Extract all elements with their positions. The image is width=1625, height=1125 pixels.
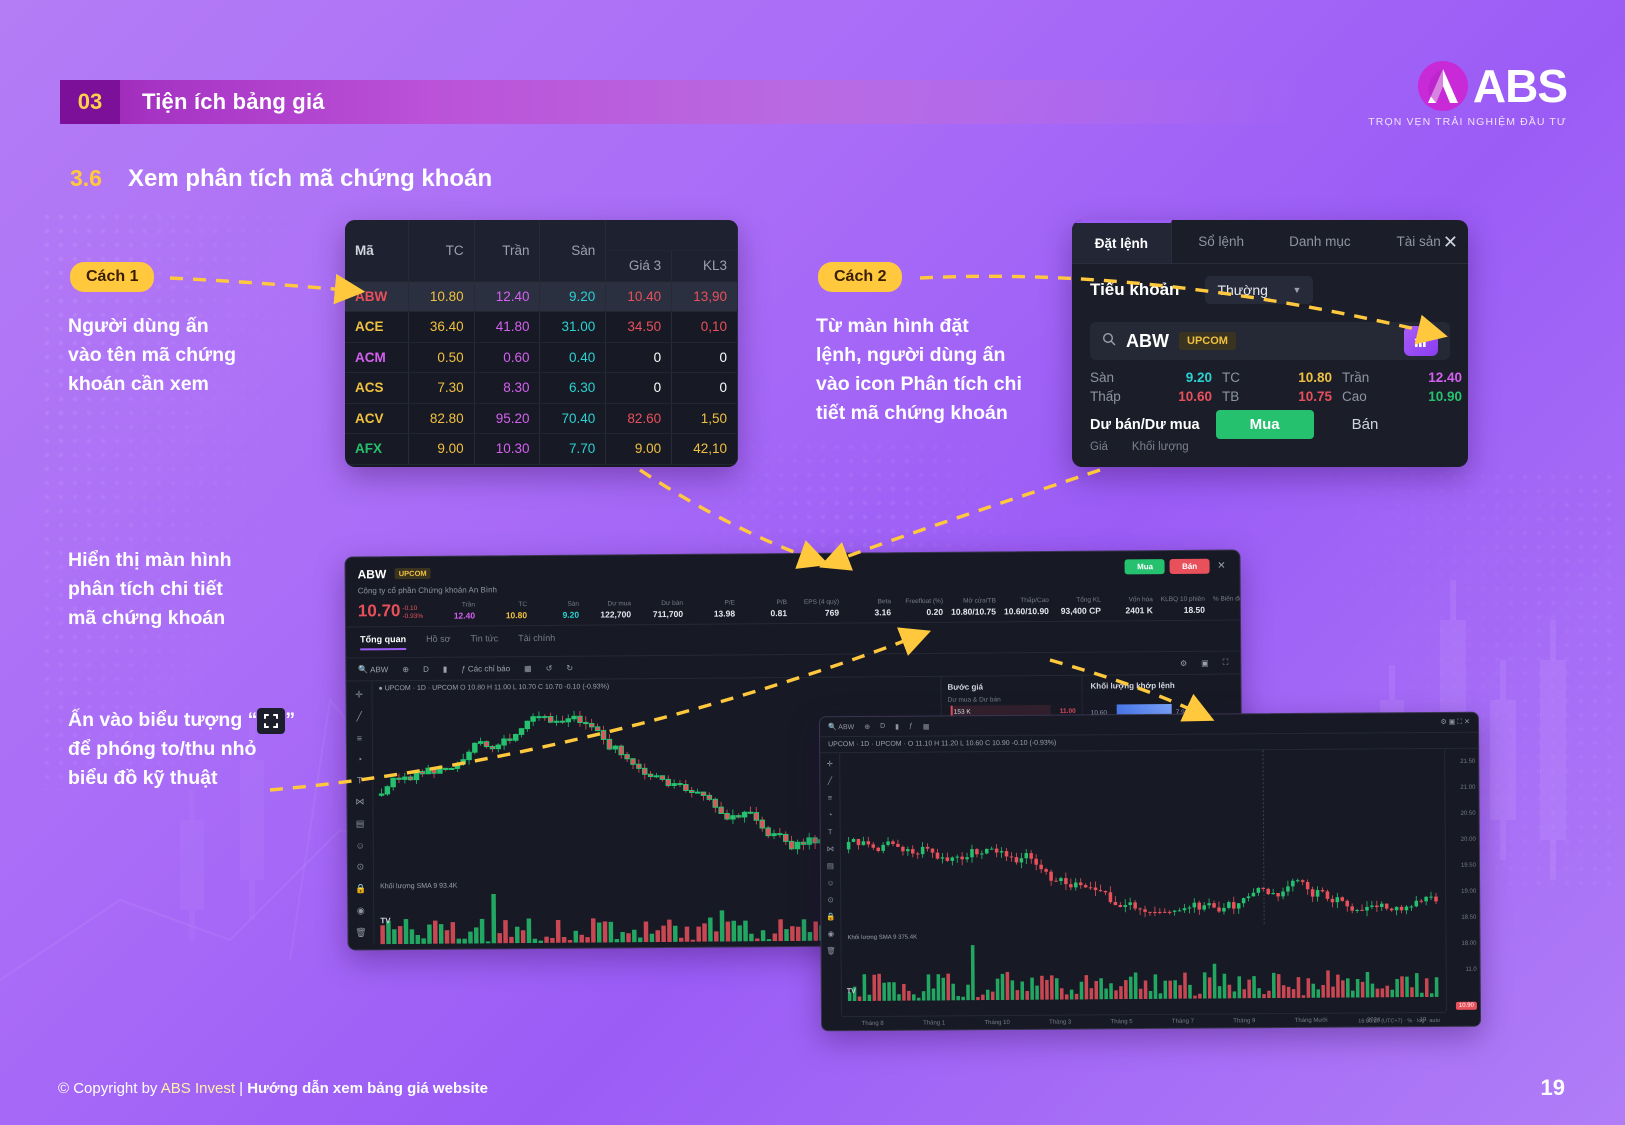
cell-gia3: 10.40 xyxy=(606,281,672,312)
fs-price-chart[interactable]: Khối lượng SMA 9 375.4K TV xyxy=(840,749,1446,1015)
mw-stat-value: 3.16 xyxy=(847,607,891,617)
trendline-icon[interactable]: ╱ xyxy=(356,711,362,722)
mw-stat-label: Beta xyxy=(847,598,891,605)
fs-lines-icon[interactable]: ≡ xyxy=(828,793,832,802)
abs-logo-tagline: TRỌN VẸN TRẢI NGHIỆM ĐẦU TƯ xyxy=(1337,116,1567,128)
mw-stat-label: Vốn hóa xyxy=(1109,596,1153,603)
emoji-icon[interactable]: ☺ xyxy=(356,840,365,850)
fs-y-tick: 21.00 xyxy=(1460,785,1475,791)
fs-drawing-toolbar: ✛ ╱ ≡ ◔ T ⋈ ▤ ☺ ⊙ 🔒 ◉ 🗑 xyxy=(820,753,842,1015)
mw-exchange-badge: UPCOM xyxy=(395,568,431,579)
symbol-search[interactable]: ABW UPCOM xyxy=(1090,322,1450,360)
mw-change: -0.10 -0.93% xyxy=(402,605,423,621)
cell-tran: 0.60 xyxy=(474,342,540,373)
quote-value: 10.60 xyxy=(1150,389,1212,404)
cell-gia3: 34.50 xyxy=(606,312,672,343)
order-footer-sub: Giá Khối lượng xyxy=(1072,439,1468,455)
cell-san: 31.00 xyxy=(540,312,606,343)
cell-gia3: 9.00 xyxy=(606,434,672,465)
mw-stat-label: Sàn xyxy=(535,601,579,608)
qty-sub-label: Khối lượng xyxy=(1132,441,1189,453)
layout-icon[interactable]: ▦ xyxy=(524,664,532,673)
cell-tran: 12.40 xyxy=(474,281,540,312)
mw-toolbar-search[interactable]: 🔍 ABW xyxy=(358,665,388,674)
cell-gia3: 0 xyxy=(606,373,672,404)
fullscreen-icon-mw[interactable]: ⛶ xyxy=(1223,658,1229,668)
quote-label: Trần xyxy=(1342,370,1390,385)
account-row: Tiểu khoản Thường ▼ xyxy=(1072,264,1468,314)
fs-y-tick: 11.0 xyxy=(1465,967,1476,973)
mw-stat-label: EPS (4 quý) xyxy=(795,599,839,606)
tab-so-lenh[interactable]: Sổ lệnh xyxy=(1172,220,1271,263)
sell-button[interactable]: Bán xyxy=(1330,410,1401,439)
arrow-order-to-window xyxy=(838,470,1100,560)
mw-stat-label: Thấp/Cao xyxy=(1004,597,1049,604)
fs-crosshair-icon[interactable]: ✛ xyxy=(827,759,833,768)
table-row[interactable]: ACM0.500.600.4000 xyxy=(345,342,738,373)
cell-code[interactable]: ACV xyxy=(345,403,408,434)
price-board-table[interactable]: Mã TC Trần Sàn Giá 3 KL3 ABW10.8012.409.… xyxy=(345,220,738,467)
mw-stat: % Biến động 1 năm8.13 xyxy=(1213,595,1244,614)
order-footer: Dư bán/Dư mua Mua Bán xyxy=(1072,404,1468,439)
fs-x-tick: Tháng 5 xyxy=(1111,1019,1133,1025)
zoom-text-prefix: Ấn vào biểu tượng “ xyxy=(68,709,257,731)
mw-stat: TC10.80 xyxy=(483,601,527,620)
mw-tab-tin-tuc[interactable]: Tin tức xyxy=(470,633,498,649)
mw-stat: Vốn hóa2401 K xyxy=(1109,596,1153,615)
order-panel-tabs: Đặt lệnh Sổ lệnh Danh mục Tài sản ✕ xyxy=(1072,220,1468,264)
fs-y-tick: 19.50 xyxy=(1461,863,1476,869)
mw-tab-tai-chinh[interactable]: Tài chính xyxy=(518,633,555,649)
price-table-body: ABW10.8012.409.2010.4013,90ACE36.4041.80… xyxy=(345,281,738,464)
table-row[interactable]: AFX9.0010.307.709.0042,10 xyxy=(345,434,738,465)
mw-stat-list: Trần12.40TC10.80Sàn9.20Dư mua122,700Dư b… xyxy=(423,594,1244,621)
mw-change-pct: -0.93% xyxy=(402,613,423,620)
mw-stat-value: 0.20 xyxy=(899,607,943,617)
section-title: Tiện ích bảng giá xyxy=(142,89,325,115)
quote-value: 9.20 xyxy=(1150,370,1212,385)
fs-chart-header-text: UPCOM · 1D · UPCOM · O 11.10 H 11.20 L 1… xyxy=(828,740,1056,749)
cell-san: 7.70 xyxy=(540,434,606,465)
mw-toolbar-interval[interactable]: D xyxy=(423,664,429,673)
mw-stat-label: % Biến động 1 năm xyxy=(1213,595,1244,602)
mw-stat-label: P/B xyxy=(743,599,787,606)
footer-separator: | xyxy=(235,1080,247,1097)
callout-text-zoom: Ấn vào biểu tượng “ ” để phóng to/thu nh… xyxy=(68,706,388,793)
magnet-icon[interactable]: ⊙ xyxy=(357,861,365,872)
cell-code[interactable]: ABW xyxy=(345,281,408,312)
mw-x-tick: Tháng Mười hai xyxy=(756,949,799,951)
mw-tab-tong-quan[interactable]: Tổng quan xyxy=(360,634,406,650)
close-icon[interactable]: ✕ xyxy=(1443,232,1458,253)
depth-label: Dư bán/Dư mua xyxy=(1090,417,1200,433)
cell-tc: 7.30 xyxy=(408,373,474,404)
tradingview-logo: TV xyxy=(380,916,390,925)
chevron-down-icon: ▼ xyxy=(1293,285,1302,295)
cell-tran: 10.30 xyxy=(474,434,540,465)
eye-icon[interactable]: ◉ xyxy=(357,905,365,916)
col-header-tc[interactable]: TC xyxy=(408,220,474,281)
fs-eye-icon[interactable]: ◉ xyxy=(828,929,835,938)
cell-kl3: 0 xyxy=(672,342,738,373)
mw-stat-label: P/E xyxy=(691,599,735,606)
search-icon xyxy=(1102,332,1116,351)
candlestick-icon[interactable]: ▮ xyxy=(443,664,447,673)
chart-analysis-icon[interactable] xyxy=(1404,326,1438,356)
fs-last-price-tag: 10.90 xyxy=(1456,1002,1477,1010)
fs-x-tick: Tháng 1 xyxy=(923,1020,945,1026)
mw-stat-label: Tổng KL xyxy=(1057,597,1101,604)
mw-toolbar-indicators[interactable]: ƒ Các chỉ báo xyxy=(461,664,510,673)
mw-stat-value: 12.40 xyxy=(431,611,475,621)
mw-stat-value: 10.80/10.75 xyxy=(951,606,996,616)
pattern-icon[interactable]: ⋈ xyxy=(355,796,364,807)
mw-stat: P/E13.98 xyxy=(691,599,735,618)
fs-shapes-icon[interactable]: ◔ xyxy=(828,810,833,819)
mw-stat: EPS (4 quý)769 xyxy=(795,599,839,618)
shapes-icon[interactable]: ◔ xyxy=(357,754,363,764)
dot-pattern-left xyxy=(40,210,340,790)
fs-tradingview-logo: TV xyxy=(847,988,856,995)
mw-stat-label: TC xyxy=(483,601,527,608)
tab-danh-muc[interactable]: Danh mục xyxy=(1271,220,1370,263)
mw-drawing-toolbar: ✛ ╱ ≡ ◔ T ⋈ ▤ ☺ ⊙ 🔒 ◉ 🗑 xyxy=(346,681,374,943)
fs-y-tick: 21.50 xyxy=(1460,759,1475,765)
mw-stat-value: 93,400 CP xyxy=(1057,606,1101,616)
section-number: 03 xyxy=(60,80,120,124)
mw-header: ABW UPCOM Công ty cổ phần Chứng khoán An… xyxy=(345,550,1239,599)
fs-x-tick: Tháng 8 xyxy=(862,1020,884,1026)
cell-kl3: 13,90 xyxy=(672,281,738,312)
orderbook-title: Bước giá xyxy=(947,682,1075,692)
abs-logo-text: ABS xyxy=(1473,63,1567,109)
cell-tc: 10.80 xyxy=(408,281,474,312)
cell-kl3: 1,50 xyxy=(672,403,738,434)
abs-logo-mark xyxy=(1417,60,1469,112)
callout-text-way2: Từ màn hình đặt lệnh, người dùng ấn vào … xyxy=(816,312,1056,428)
mw-stat-value: 10.80 xyxy=(483,610,527,620)
matched-volume-title: Khối lượng khớp lệnh xyxy=(1090,681,1232,691)
mw-stat-value: 769 xyxy=(795,608,839,618)
quote-value: 12.40 xyxy=(1400,370,1462,385)
mw-stat: Mở cửa/TB10.80/10.75 xyxy=(951,597,996,616)
subsection-number: 3.6 xyxy=(70,165,102,192)
mw-stat-value: 8.13 xyxy=(1213,604,1244,614)
cell-code[interactable]: ACS xyxy=(345,373,408,404)
price-table-header-row-1: Mã TC Trần Sàn xyxy=(345,220,738,251)
camera-icon[interactable]: ▣ xyxy=(1201,658,1209,667)
cell-san: 6.30 xyxy=(540,373,606,404)
footer-brand: ABS Invest xyxy=(161,1080,235,1097)
mw-stat-value: 18.50 xyxy=(1161,605,1205,615)
mw-tab-ho-so[interactable]: Hồ sơ xyxy=(426,634,451,650)
mw-stat-label: Dư bán xyxy=(639,600,683,607)
cell-code[interactable]: ACM xyxy=(345,342,408,373)
text-icon[interactable]: T xyxy=(357,775,363,785)
callout-pill-way2: Cách 2 xyxy=(818,262,902,292)
fs-time-axis: Tháng 8Tháng 1Tháng 10Tháng 3Tháng 5Thán… xyxy=(842,1012,1446,1030)
fs-y-tick: 19.00 xyxy=(1461,889,1476,895)
col-header-kl3[interactable]: KL3 xyxy=(672,251,738,282)
section-header-bar: 03 Tiện ích bảng giá xyxy=(60,80,1300,124)
fs-interval[interactable]: D xyxy=(880,723,885,730)
mw-stat: KLBQ 10 phiên18.50 xyxy=(1161,596,1205,615)
price-table-head: Mã TC Trần Sàn Giá 3 KL3 xyxy=(345,220,738,281)
cell-tc: 36.40 xyxy=(408,312,474,343)
mw-symbol: ABW xyxy=(358,567,387,581)
mw-stat-value: 10.60/10.90 xyxy=(1004,606,1049,616)
subsection-title: Xem phân tích mã chứng khoán xyxy=(128,165,492,193)
account-label: Tiểu khoản xyxy=(1090,280,1179,300)
cell-kl3: 0 xyxy=(672,373,738,404)
fs-gear-icon[interactable]: ⚙ ▣ ⛶ ✕ xyxy=(1440,718,1470,727)
cell-kl3: 42,10 xyxy=(672,434,738,465)
mw-stat: Dư mua122,700 xyxy=(587,600,631,619)
cell-tc: 82.80 xyxy=(408,403,474,434)
mw-close-icon[interactable]: ✕ xyxy=(1217,561,1225,572)
table-row[interactable]: ABW10.8012.409.2010.4013,90 xyxy=(345,281,738,312)
price-sub-label: Giá xyxy=(1090,441,1108,453)
quote-label: Sàn xyxy=(1090,370,1140,385)
fs-search[interactable]: 🔍 ABW xyxy=(828,723,854,731)
fs-pattern-icon[interactable]: ⋈ xyxy=(827,844,835,853)
footer: © Copyright by ABS Invest | Hướng dẫn xe… xyxy=(58,1080,488,1097)
fs-x-tick: Tháng 7 xyxy=(1172,1018,1194,1024)
mw-toolbar-add-icon[interactable]: ⊕ xyxy=(402,665,409,674)
table-row[interactable]: ACE36.4041.8031.0034.500,10 xyxy=(345,312,738,343)
price-table: Mã TC Trần Sàn Giá 3 KL3 ABW10.8012.409.… xyxy=(345,220,738,465)
fs-layout-icon[interactable]: ▦ xyxy=(923,722,930,730)
zoom-text-rest: để phóng to/thu nhỏ biểu đồ kỹ thuật xyxy=(68,735,388,793)
quote-label: TC xyxy=(1222,370,1260,385)
account-select[interactable]: Thường ▼ xyxy=(1205,276,1313,304)
table-row[interactable]: ACV82.8095.2070.4082.601,50 xyxy=(345,403,738,434)
fs-body: ✛ ╱ ≡ ◔ T ⋈ ▤ ☺ ⊙ 🔒 ◉ 🗑 Khối lượng SMA 9… xyxy=(820,749,1480,1016)
cell-tran: 41.80 xyxy=(474,312,540,343)
footer-doc-title: Hướng dẫn xem bảng giá website xyxy=(247,1080,488,1097)
callout-pill-way1: Cách 1 xyxy=(70,262,154,292)
fs-y-tick: 20.50 xyxy=(1461,811,1476,817)
fs-x-tick: Tháng Mười xyxy=(1295,1017,1328,1023)
tab-dat-lenh[interactable]: Đặt lệnh xyxy=(1072,220,1172,263)
table-row[interactable]: ACS7.308.306.3000 xyxy=(345,373,738,404)
cell-san: 70.40 xyxy=(540,403,606,434)
mw-stat-value: 711,700 xyxy=(639,609,683,619)
exchange-badge: UPCOM xyxy=(1179,332,1236,350)
redo-icon[interactable]: ↻ xyxy=(566,663,573,672)
mw-stat: Thấp/Cao10.60/10.90 xyxy=(1004,597,1049,616)
mw-stat-value: 122,700 xyxy=(587,609,631,619)
fs-y-tick: 18.50 xyxy=(1461,915,1476,921)
fs-price-axis: 21.5021.0020.5020.0019.5019.0018.5018.00… xyxy=(1444,749,1480,1011)
fs-magnet-icon[interactable]: ⊙ xyxy=(828,895,834,904)
quote-value: 10.90 xyxy=(1400,389,1462,404)
col-header-group-bên-mua xyxy=(606,220,738,251)
mw-sell-button[interactable]: Bán xyxy=(1170,559,1209,574)
cell-code[interactable]: AFX xyxy=(345,434,408,465)
page-number: 19 xyxy=(1541,1075,1565,1101)
buy-button[interactable]: Mua xyxy=(1216,410,1314,439)
trash-icon[interactable]: 🗑 xyxy=(355,927,367,938)
abs-logo: ABS TRỌN VẸN TRẢI NGHIỆM ĐẦU TƯ xyxy=(1337,60,1567,128)
horizontal-lines-icon[interactable]: ≡ xyxy=(357,733,362,743)
mw-stat-value: 9.20 xyxy=(535,610,579,620)
fs-y-tick: 18.00 xyxy=(1461,941,1476,947)
fs-measure-icon[interactable]: ▤ xyxy=(827,861,834,870)
quote-label: Cao xyxy=(1342,389,1390,404)
mw-stat-label: Mở cửa/TB xyxy=(951,597,996,604)
cell-san: 0.40 xyxy=(540,342,606,373)
mw-change-abs: -0.10 xyxy=(402,605,417,612)
mw-stat-label: Freefloat (%) xyxy=(899,598,943,605)
mw-last-price: 10.70 xyxy=(358,601,401,621)
cell-tc: 0.50 xyxy=(408,342,474,373)
mw-stat: Trần12.40 xyxy=(431,602,475,621)
arrow-way1 xyxy=(170,278,345,290)
fs-status-right: 16:00:20 (UTC+7) · % · log · auto xyxy=(1358,1018,1440,1025)
fs-candlestick-icon[interactable]: ▮ xyxy=(895,722,899,730)
mw-actions: Mua Bán ✕ xyxy=(1125,559,1226,575)
fs-y-tick: 20.00 xyxy=(1461,837,1476,843)
col-header-san[interactable]: Sàn xyxy=(540,220,606,281)
cell-gia3: 82.60 xyxy=(606,403,672,434)
callout-text-result: Hiển thị màn hình phân tích chi tiết mã … xyxy=(68,546,348,633)
measure-icon[interactable]: ▤ xyxy=(356,818,365,829)
quote-grid: Sàn9.20TC10.80Trần12.40Thấp10.60TB10.75C… xyxy=(1072,360,1468,404)
orderbook-subtitle: Dư mua & Dư bán xyxy=(948,696,1076,704)
fullscreen-chart-window[interactable]: 🔍 ABW ⊕ D ▮ ƒ ▦ ⚙ ▣ ⛶ ✕ UPCOM · 1D · UPC… xyxy=(819,712,1481,1032)
lock-icon[interactable]: 🔒 xyxy=(355,883,366,894)
cell-tc: 9.00 xyxy=(408,434,474,465)
fs-text-icon[interactable]: T xyxy=(828,827,833,836)
mw-stat-label: KLBQ 10 phiên xyxy=(1161,596,1205,603)
mw-stat: Sàn9.20 xyxy=(535,601,579,620)
callout-text-way1: Người dùng ấn vào tên mã chứng khoán cần… xyxy=(68,312,328,399)
mw-stat: Beta3.16 xyxy=(847,598,891,617)
fs-add-icon[interactable]: ⊕ xyxy=(864,722,870,730)
fs-lock-icon[interactable]: 🔒 xyxy=(826,912,835,921)
account-select-value: Thường xyxy=(1217,282,1267,298)
col-header-tran[interactable]: Trần xyxy=(474,220,540,281)
fs-x-tick: Tháng 3 xyxy=(1049,1019,1071,1025)
fs-emoji-icon[interactable]: ☺ xyxy=(827,878,835,887)
quote-label: Thấp xyxy=(1090,389,1140,404)
quote-value: 10.80 xyxy=(1270,370,1332,385)
cell-san: 9.20 xyxy=(540,281,606,312)
mw-stat-value: 2401 K xyxy=(1109,605,1153,615)
symbol-value: ABW xyxy=(1126,331,1169,352)
mw-stat: P/B0.81 xyxy=(743,599,787,618)
arrow-table-to-window xyxy=(640,470,810,558)
mw-stat-label: Dư mua xyxy=(587,600,631,607)
fs-x-tick: Tháng 9 xyxy=(1233,1018,1255,1024)
cell-gia3: 0 xyxy=(606,342,672,373)
col-header-ma[interactable]: Mã xyxy=(345,220,408,281)
fs-candlestick-svg xyxy=(840,749,1445,928)
undo-icon[interactable]: ↺ xyxy=(546,663,553,672)
cell-tran: 95.20 xyxy=(474,403,540,434)
mw-stat-value: 0.81 xyxy=(743,608,787,618)
mw-x-tick: Tháng 11 xyxy=(682,950,707,951)
mw-buy-button[interactable]: Mua xyxy=(1125,559,1165,574)
mw-stat: Dư bán711,700 xyxy=(639,600,683,619)
quote-value: 10.75 xyxy=(1270,389,1332,404)
order-entry-panel[interactable]: Đặt lệnh Sổ lệnh Danh mục Tài sản ✕ Tiểu… xyxy=(1072,220,1468,467)
fs-volume-svg xyxy=(841,939,1445,1001)
cell-kl3: 0,10 xyxy=(672,312,738,343)
fs-trash-icon[interactable]: 🗑 xyxy=(826,946,836,955)
quote-label: TB xyxy=(1222,389,1260,404)
gear-icon[interactable]: ⚙ xyxy=(1180,658,1187,667)
zoom-text-suffix: ” xyxy=(285,709,295,731)
crosshair-icon[interactable]: ✛ xyxy=(355,689,363,700)
cell-code[interactable]: ACE xyxy=(345,312,408,343)
fs-trendline-icon[interactable]: ╱ xyxy=(828,776,833,785)
mw-stat-value: 13.98 xyxy=(691,608,735,618)
fs-x-tick: Tháng 10 xyxy=(984,1019,1009,1025)
mw-stat-label: Trần xyxy=(431,602,475,609)
fullscreen-icon xyxy=(257,708,285,734)
fs-indicators[interactable]: ƒ xyxy=(909,723,913,730)
mw-stat: Freefloat (%)0.20 xyxy=(899,598,943,617)
mw-stat: Tổng KL93,400 CP xyxy=(1057,597,1101,616)
footer-copyright: © Copyright by xyxy=(58,1080,161,1097)
cell-tran: 8.30 xyxy=(474,373,540,404)
col-header-gia3[interactable]: Giá 3 xyxy=(606,251,672,282)
